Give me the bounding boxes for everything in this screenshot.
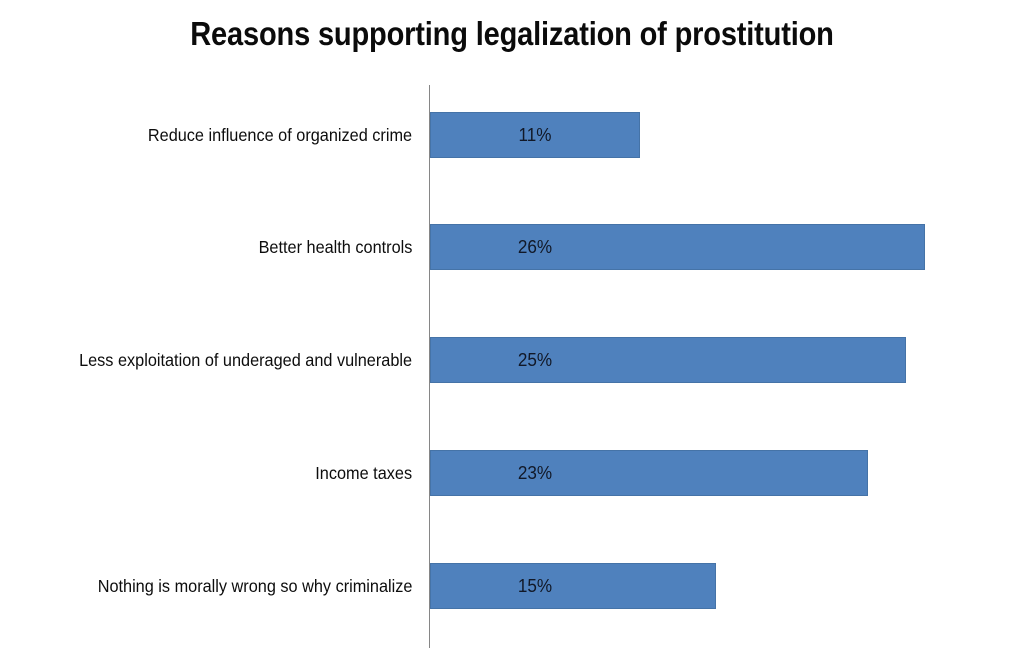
bar-value-label: 26%	[435, 224, 635, 270]
bar-value-label: 15%	[435, 563, 635, 609]
bar-value-label: 11%	[435, 112, 635, 158]
category-label: Nothing is morally wrong so why criminal…	[97, 562, 412, 610]
bar-row: Better health controls 26%	[0, 223, 1024, 271]
bar-row: Reduce influence of organized crime 11%	[0, 111, 1024, 159]
category-label: Better health controls	[258, 223, 412, 271]
plot-area: Reduce influence of organized crime 11% …	[0, 0, 1024, 671]
bar-value-label: 25%	[435, 337, 635, 383]
category-label: Reduce influence of organized crime	[148, 111, 412, 159]
bar-chart: Reasons supporting legalization of prost…	[0, 0, 1024, 671]
bar-row: Nothing is morally wrong so why criminal…	[0, 562, 1024, 610]
bar-row: Less exploitation of underaged and vulne…	[0, 336, 1024, 384]
bar-row: Income taxes 23%	[0, 449, 1024, 497]
bar-value-label: 23%	[435, 450, 635, 496]
category-label: Less exploitation of underaged and vulne…	[79, 336, 412, 384]
category-label: Income taxes	[315, 449, 412, 497]
